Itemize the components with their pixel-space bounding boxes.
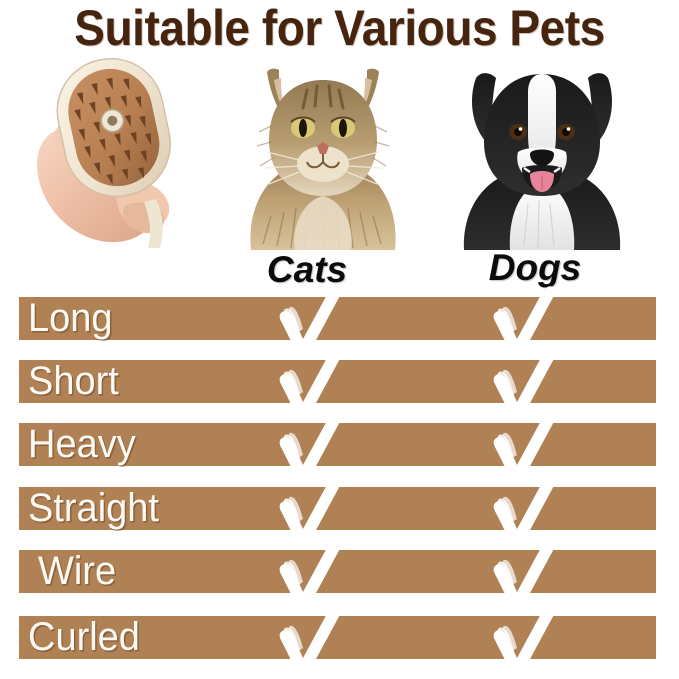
row-label: Heavy [28,423,136,465]
row-label: Wire [38,550,116,592]
table-row: Curled [19,616,656,659]
infographic-canvas: Suitable for Various Pets [0,0,679,679]
row-label: Short [28,360,119,402]
row-label: Curled [28,616,140,658]
check-mark-brush-icon-cats[interactable] [273,602,345,679]
row-label: Straight [28,487,159,529]
table-row: Wire [19,550,656,593]
row-label: Long [28,297,113,339]
table-row: Straight [19,487,656,530]
check-mark-brush-icon-dogs[interactable] [487,602,559,679]
table-row: Long [19,297,656,340]
table-row: Heavy [19,423,656,466]
compatibility-table: Long Short [0,0,679,679]
table-row: Short [19,360,656,403]
